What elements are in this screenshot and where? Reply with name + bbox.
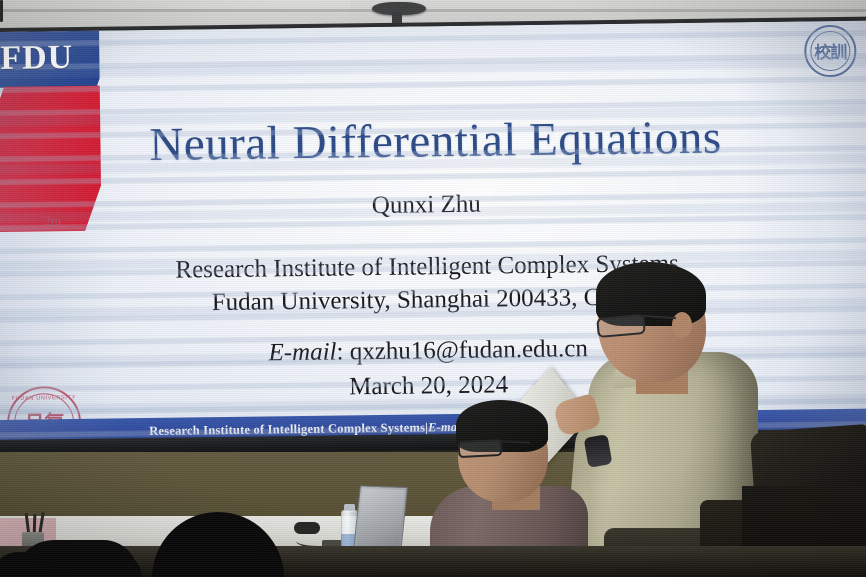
standing-man-glasses-icon [596, 314, 646, 338]
fdu-logo-text: FDU [0, 39, 73, 78]
pen-1 [0, 0, 3, 22]
slide-email-separator: : [336, 338, 350, 365]
audience-silhouette-3 [0, 552, 142, 577]
institute-seal-glyph: 校訓 [814, 38, 846, 63]
desk-clutter-1 [294, 522, 320, 534]
photo-scene: FDU 2m FUDAN UNIVERSITY 旦复 1905 校訓 Neura… [0, 0, 866, 577]
slide-title: Neural Differential Equations [0, 108, 866, 174]
slide-margin-note: 2m [44, 213, 61, 229]
seated-man-glasses-icon [458, 439, 503, 458]
standing-man-ear [672, 312, 692, 338]
slide-email-label: E-mail [268, 339, 336, 367]
ceiling-seam [0, 9, 866, 12]
slide-email-value: qxzhu16@fudan.edu.cn [350, 335, 589, 365]
wristwatch-icon [584, 434, 613, 468]
slide-affiliation: Research Institute of Intelligent Comple… [0, 245, 858, 322]
